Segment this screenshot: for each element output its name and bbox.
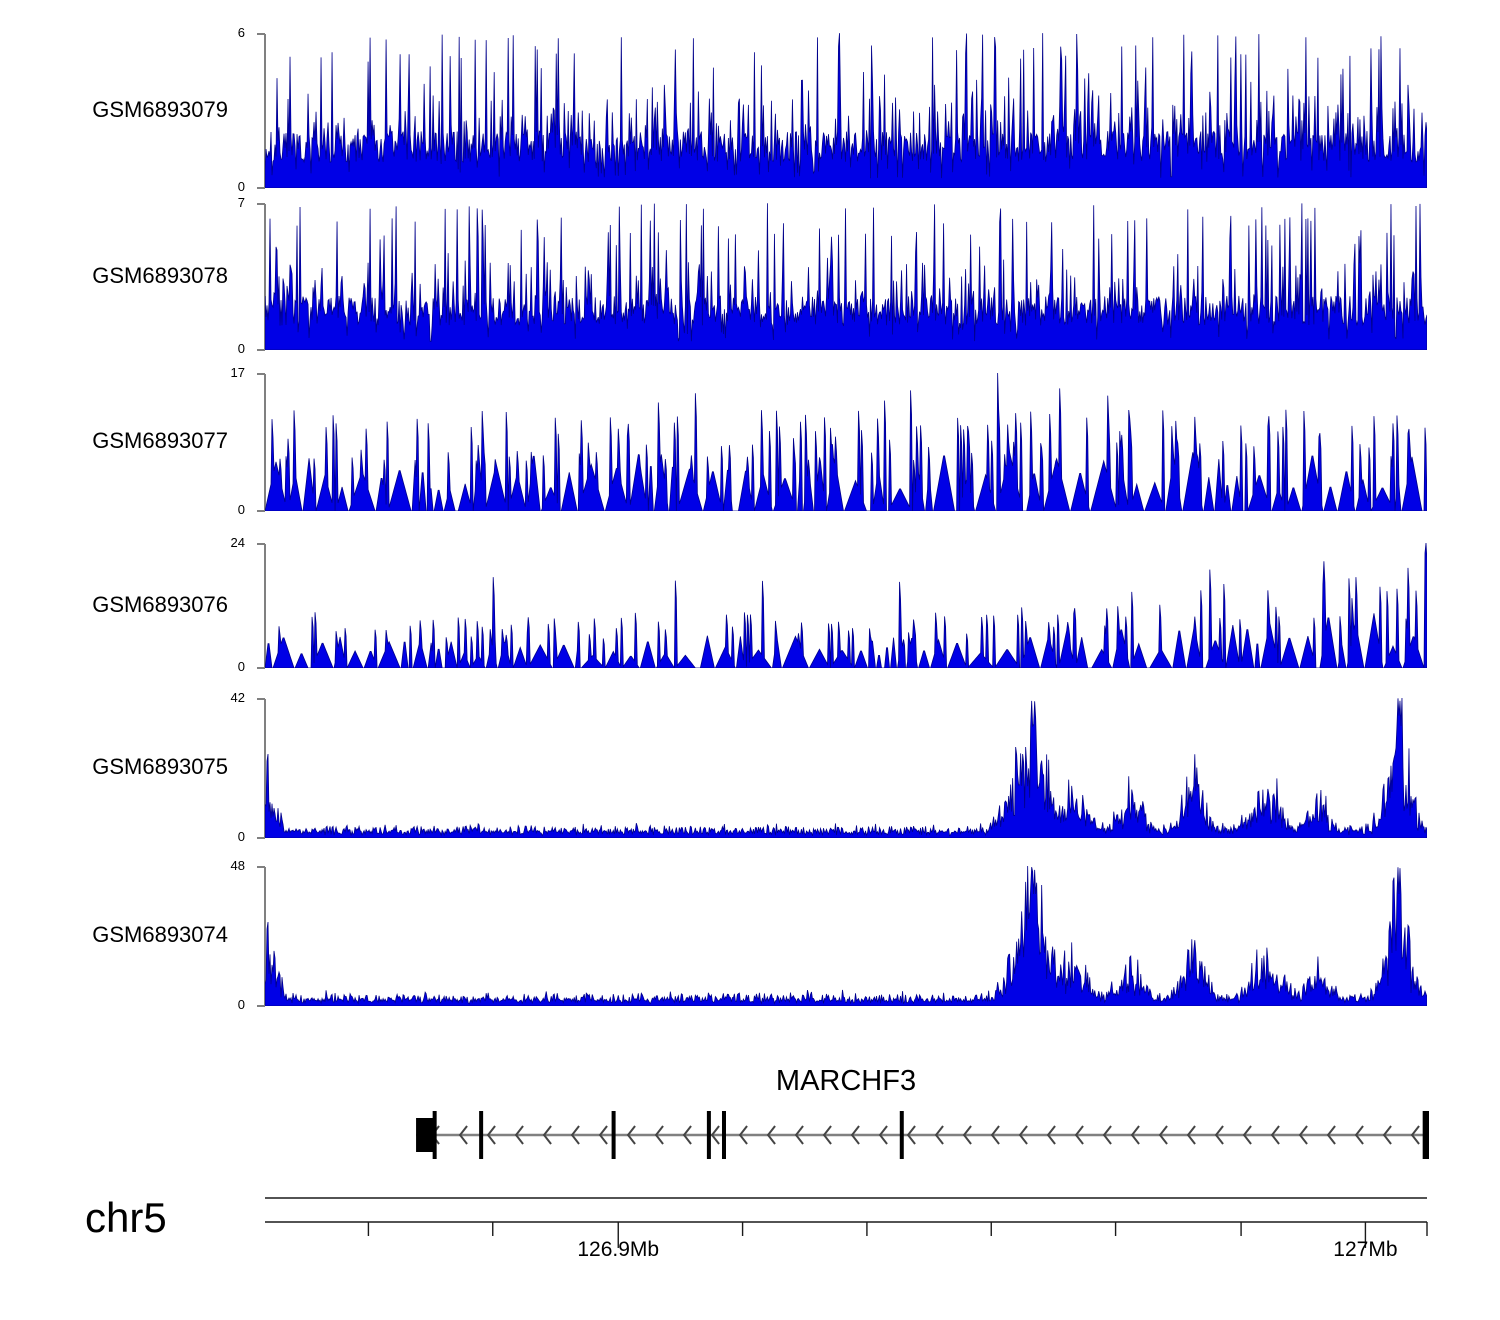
- gene-annotation-panel: MARCHF3: [0, 1055, 1500, 1185]
- track-sample-label: GSM6893077: [0, 428, 228, 454]
- track-sample-label: GSM6893076: [0, 592, 228, 618]
- coverage-track: GSM6893075420: [0, 698, 1500, 838]
- track-coverage-plot[interactable]: [265, 203, 1427, 350]
- track-axis-max-label: 42: [205, 690, 245, 705]
- track-axis-max-label: 24: [205, 535, 245, 550]
- coverage-area-graphic: [265, 373, 1427, 511]
- coverage-track: GSM6893077170: [0, 373, 1500, 511]
- ruler-tick-label: 127Mb: [1333, 1238, 1397, 1262]
- coverage-track: GSM689307870: [0, 203, 1500, 350]
- track-axis-min-label: 0: [205, 829, 245, 844]
- track-axis-max-label: 48: [205, 858, 245, 873]
- track-axis-min-label: 0: [205, 341, 245, 356]
- coverage-track: GSM6893076240: [0, 543, 1500, 668]
- genome-browser-view: GSM689307960GSM689307870GSM6893077170GSM…: [0, 0, 1500, 1320]
- coverage-track: GSM689307960: [0, 33, 1500, 188]
- track-axis-max-label: 17: [205, 365, 245, 380]
- track-axis-max-label: 6: [205, 25, 245, 40]
- ruler-tick-label: 126.9Mb: [577, 1238, 659, 1262]
- track-axis-min-label: 0: [205, 659, 245, 674]
- track-axis-min-label: 0: [205, 502, 245, 517]
- track-sample-label: GSM6893078: [0, 263, 228, 289]
- track-sample-label: GSM6893079: [0, 97, 228, 123]
- track-axis-min-label: 0: [205, 179, 245, 194]
- coverage-track: GSM6893074480: [0, 866, 1500, 1006]
- track-coverage-plot[interactable]: [265, 33, 1427, 188]
- coverage-area-graphic: [265, 33, 1427, 188]
- track-axis-max-label: 7: [205, 195, 245, 210]
- coverage-area-graphic: [265, 866, 1427, 1006]
- track-sample-label: GSM6893075: [0, 754, 228, 780]
- track-coverage-plot[interactable]: [265, 373, 1427, 511]
- coverage-area-graphic: [265, 543, 1427, 668]
- track-coverage-plot[interactable]: [265, 543, 1427, 668]
- coverage-area-graphic: [265, 203, 1427, 350]
- track-axis-min-label: 0: [205, 997, 245, 1012]
- track-coverage-plot[interactable]: [265, 698, 1427, 838]
- gene-name-label: MARCHF3: [265, 1065, 1427, 1098]
- track-sample-label: GSM6893074: [0, 922, 228, 948]
- chromosome-ruler-panel: chr5 126.9Mb127Mb: [0, 1180, 1500, 1290]
- track-coverage-plot[interactable]: [265, 866, 1427, 1006]
- ruler-graphic: [0, 1188, 1500, 1248]
- coverage-area-graphic: [265, 698, 1427, 838]
